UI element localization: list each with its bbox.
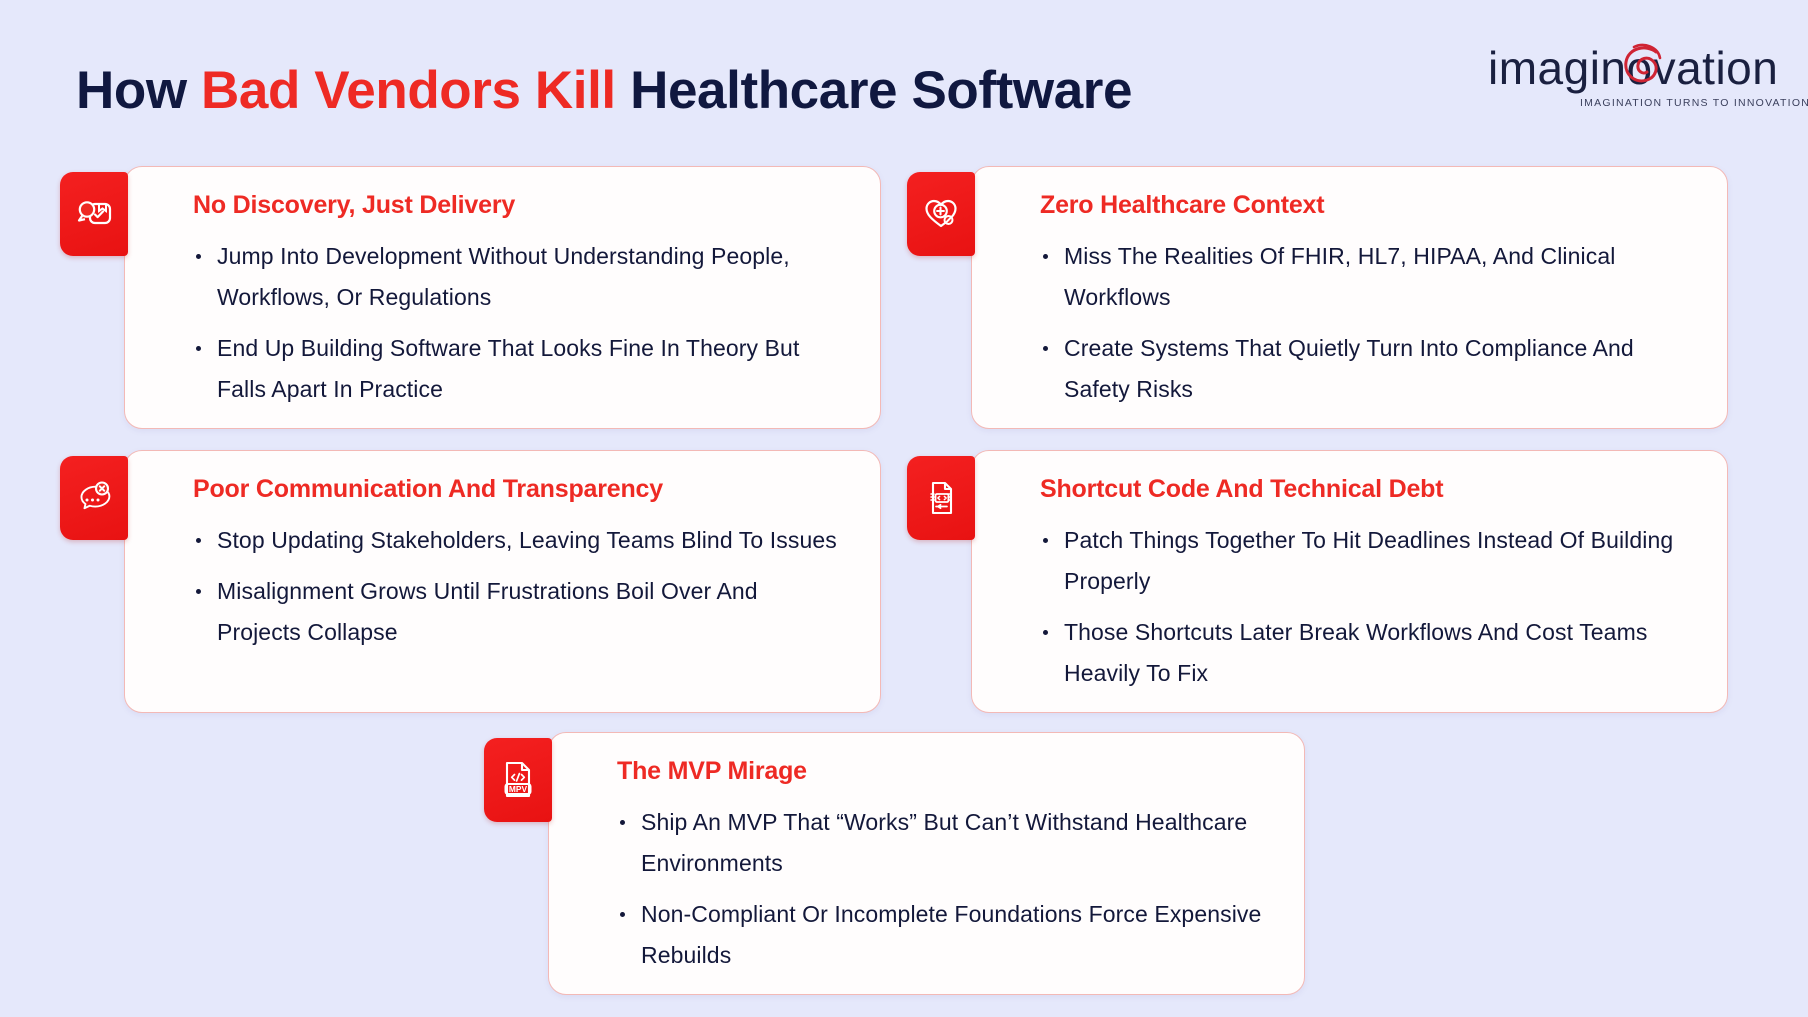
card-icon-tile-poor-communication (60, 456, 128, 540)
logo-swirl-icon (1616, 42, 1668, 94)
bullet-dot-icon (1043, 254, 1048, 259)
card-title: Poor Communication And Transparency (193, 475, 848, 504)
bullet-text: Non-Compliant Or Incomplete Foundations … (641, 901, 1261, 968)
page-title-accent: Bad Vendors Kill (201, 61, 616, 120)
list-item: Create Systems That Quietly Turn Into Co… (1040, 328, 1695, 410)
card-bullet-list: Patch Things Together To Hit Deadlines I… (1040, 520, 1695, 694)
bullet-dot-icon (196, 254, 201, 259)
card-bullet-list: Jump Into Development Without Understand… (193, 236, 848, 410)
bullet-dot-icon (1043, 538, 1048, 543)
brand-logo[interactable]: imaginovation IMAGINATION TURNS TO INNOV… (1488, 40, 1770, 114)
code-document-icon (922, 479, 960, 517)
card-shortcut-code: Shortcut Code And Technical Debt Patch T… (971, 450, 1728, 713)
card-title: No Discovery, Just Delivery (193, 191, 848, 220)
card-title: Zero Healthcare Context (1040, 191, 1695, 220)
bullet-text: Miss The Realities Of FHIR, HL7, HIPAA, … (1064, 243, 1615, 310)
bullet-dot-icon (620, 820, 625, 825)
list-item: Ship An MVP That “Works” But Can’t Withs… (617, 802, 1272, 884)
card-title: The MVP Mirage (617, 757, 1272, 786)
mpv-file-icon: MPV (499, 760, 537, 800)
card-icon-tile-shortcut-code (907, 456, 975, 540)
bullet-dot-icon (620, 912, 625, 917)
chat-bubble-error-icon (75, 479, 113, 517)
list-item: Miss The Realities Of FHIR, HL7, HIPAA, … (1040, 236, 1695, 318)
card-title: Shortcut Code And Technical Debt (1040, 475, 1695, 504)
card-icon-tile-no-discovery (60, 172, 128, 256)
bullet-text: Ship An MVP That “Works” But Can’t Withs… (641, 809, 1247, 876)
page-title-part1: How (76, 61, 201, 120)
heart-medical-cross-icon (922, 195, 960, 233)
card-no-discovery: No Discovery, Just Delivery Jump Into De… (124, 166, 881, 429)
bullet-text: Misalignment Grows Until Frustrations Bo… (217, 578, 758, 645)
list-item: Non-Compliant Or Incomplete Foundations … (617, 894, 1272, 976)
search-checkbox-icon (75, 195, 113, 233)
bullet-dot-icon (196, 589, 201, 594)
card-bullet-list: Ship An MVP That “Works” But Can’t Withs… (617, 802, 1272, 976)
page-header: How Bad Vendors Kill Healthcare Software… (0, 0, 1808, 150)
page-title: How Bad Vendors Kill Healthcare Software (76, 60, 1132, 121)
mpv-icon-label: MPV (509, 784, 528, 794)
card-icon-tile-zero-healthcare-context (907, 172, 975, 256)
page-title-part2: Healthcare Software (616, 61, 1132, 120)
card-bullet-list: Miss The Realities Of FHIR, HL7, HIPAA, … (1040, 236, 1695, 410)
bullet-text: Jump Into Development Without Understand… (217, 243, 790, 310)
logo-tagline: IMAGINATION TURNS TO INNOVATION (1580, 97, 1808, 109)
card-zero-healthcare-context: Zero Healthcare Context Miss The Realiti… (971, 166, 1728, 429)
list-item: Those Shortcuts Later Break Workflows An… (1040, 612, 1695, 694)
bullet-text: Those Shortcuts Later Break Workflows An… (1064, 619, 1647, 686)
card-icon-tile-mvp-mirage: MPV (484, 738, 552, 822)
card-poor-communication: Poor Communication And Transparency Stop… (124, 450, 881, 713)
bullet-dot-icon (196, 346, 201, 351)
bullet-text: Create Systems That Quietly Turn Into Co… (1064, 335, 1634, 402)
bullet-text: End Up Building Software That Looks Fine… (217, 335, 799, 402)
bullet-text: Stop Updating Stakeholders, Leaving Team… (217, 527, 837, 553)
list-item: End Up Building Software That Looks Fine… (193, 328, 848, 410)
bullet-dot-icon (1043, 346, 1048, 351)
bullet-text: Patch Things Together To Hit Deadlines I… (1064, 527, 1673, 594)
card-mvp-mirage: The MVP Mirage Ship An MVP That “Works” … (548, 732, 1305, 995)
bullet-dot-icon (196, 538, 201, 543)
list-item: Misalignment Grows Until Frustrations Bo… (193, 571, 848, 653)
list-item: Patch Things Together To Hit Deadlines I… (1040, 520, 1695, 602)
list-item: Jump Into Development Without Understand… (193, 236, 848, 318)
bullet-dot-icon (1043, 630, 1048, 635)
list-item: Stop Updating Stakeholders, Leaving Team… (193, 520, 848, 561)
card-bullet-list: Stop Updating Stakeholders, Leaving Team… (193, 520, 848, 653)
